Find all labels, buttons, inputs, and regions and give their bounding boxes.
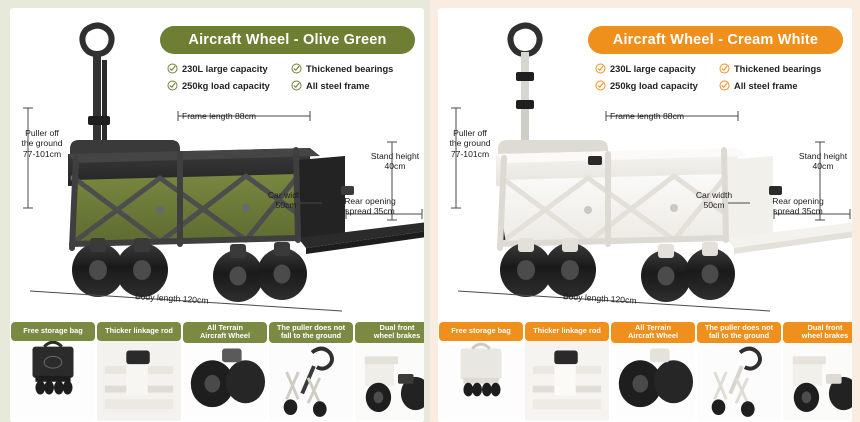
- thumbnail-label: The puller does notfall to the ground: [697, 322, 781, 343]
- title-pill-cream-white: Aircraft Wheel - Cream White: [588, 26, 843, 54]
- check-circle-icon: [291, 80, 302, 91]
- thumbnail-free-storage-bag[interactable]: Free storage bag: [11, 322, 95, 422]
- thumbnail-label: All TerrainAircraft Wheel: [611, 322, 695, 343]
- dim-stand-height: Stand height 40cm: [790, 151, 852, 172]
- panel-olive-green: Aircraft Wheel - Olive Green 230L large …: [0, 0, 430, 422]
- thumbnail-all-terrain-aircraft-wheel[interactable]: All TerrainAircraft Wheel: [183, 322, 267, 422]
- wagon-illustration-olive-green: [10, 8, 424, 338]
- feature-label: Thickened bearings: [734, 64, 821, 74]
- thumbnail-label: Free storage bag: [439, 322, 523, 341]
- wheels-cream-white: [500, 238, 735, 302]
- feature-label: All steel frame: [734, 81, 798, 91]
- feature-item: 230L large capacity: [595, 63, 719, 74]
- thumbnail-puller-does-not-fall[interactable]: The puller does notfall to the ground: [697, 322, 781, 422]
- product-comparison-board: Aircraft Wheel - Olive Green 230L large …: [0, 0, 860, 422]
- dim-frame-length: Frame length 88cm: [182, 111, 256, 121]
- thumbnail-label: Dual frontwheel brakes: [355, 322, 424, 343]
- feature-item: 250kg load capacity: [595, 80, 719, 91]
- panel-inner-olive-green: Aircraft Wheel - Olive Green 230L large …: [10, 8, 424, 422]
- feature-item: All steel frame: [291, 80, 424, 91]
- feature-item: Thickened bearings: [291, 63, 424, 74]
- dim-puller-height: Puller off the ground 77-101cm: [12, 128, 72, 159]
- thumbnail-puller-does-not-fall[interactable]: The puller does notfall to the ground: [269, 322, 353, 422]
- check-circle-icon: [167, 63, 178, 74]
- feature-label: All steel frame: [306, 81, 370, 91]
- handle-olive-green: [82, 26, 111, 149]
- dim-rear-opening: Rear opening spread 35cm: [756, 196, 840, 217]
- feature-item: 250kg load capacity: [167, 80, 291, 91]
- thumbnail-free-storage-bag[interactable]: Free storage bag: [439, 322, 523, 422]
- thumbnail-strip-cream-white: Free storage bag Thicker linkage rod: [438, 322, 852, 422]
- thumbnail-all-terrain-aircraft-wheel[interactable]: All TerrainAircraft Wheel: [611, 322, 695, 422]
- feature-label: 230L large capacity: [610, 64, 696, 74]
- panel-inner-cream-white: Aircraft Wheel - Cream White 230L large …: [438, 8, 852, 422]
- thumbnail-thicker-linkage-rod[interactable]: Thicker linkage rod: [525, 322, 609, 422]
- feature-label: Thickened bearings: [306, 64, 393, 74]
- feature-item: 230L large capacity: [167, 63, 291, 74]
- thumbnail-label: The puller does notfall to the ground: [269, 322, 353, 343]
- thumbnail-label: Thicker linkage rod: [525, 322, 609, 341]
- check-circle-icon: [167, 80, 178, 91]
- thumbnail-label: All TerrainAircraft Wheel: [183, 322, 267, 343]
- dim-puller-height: Puller off the ground 77-101cm: [440, 128, 500, 159]
- handle-cream-white: [510, 26, 539, 149]
- check-circle-icon: [719, 80, 730, 91]
- feature-label: 230L large capacity: [182, 64, 268, 74]
- thumbnail-strip-olive-green: Free storage bag Thicker linkage rod: [10, 322, 424, 422]
- thumbnail-label: Dual frontwheel brakes: [783, 322, 852, 343]
- dim-car-width: Car width 50cm: [682, 190, 746, 211]
- feature-item: Thickened bearings: [719, 63, 852, 74]
- panel-cream-white: Aircraft Wheel - Cream White 230L large …: [430, 0, 860, 422]
- dim-rear-opening: Rear opening spread 35cm: [328, 196, 412, 217]
- feature-list-cream-white: 230L large capacity Thickened bearings 2…: [595, 63, 852, 91]
- feature-label: 250kg load capacity: [182, 81, 270, 91]
- thumbnail-label: Free storage bag: [11, 322, 95, 341]
- thumbnail-thicker-linkage-rod[interactable]: Thicker linkage rod: [97, 322, 181, 422]
- thumbnail-dual-front-wheel-brakes[interactable]: Dual frontwheel brakes: [355, 322, 424, 422]
- feature-label: 250kg load capacity: [610, 81, 698, 91]
- feature-list-olive-green: 230L large capacity Thickened bearings 2…: [167, 63, 424, 91]
- wagon-illustration-cream-white: [438, 8, 852, 338]
- check-circle-icon: [595, 80, 606, 91]
- thumbnail-dual-front-wheel-brakes[interactable]: Dual frontwheel brakes: [783, 322, 852, 422]
- dim-car-width: Car width 50cm: [254, 190, 318, 211]
- dim-stand-height: Stand height 40cm: [362, 151, 424, 172]
- dim-frame-length: Frame length 88cm: [610, 111, 684, 121]
- thumbnail-label: Thicker linkage rod: [97, 322, 181, 341]
- check-circle-icon: [291, 63, 302, 74]
- title-pill-olive-green: Aircraft Wheel - Olive Green: [160, 26, 415, 54]
- wheels-olive-green: [72, 238, 307, 302]
- check-circle-icon: [595, 63, 606, 74]
- check-circle-icon: [719, 63, 730, 74]
- feature-item: All steel frame: [719, 80, 852, 91]
